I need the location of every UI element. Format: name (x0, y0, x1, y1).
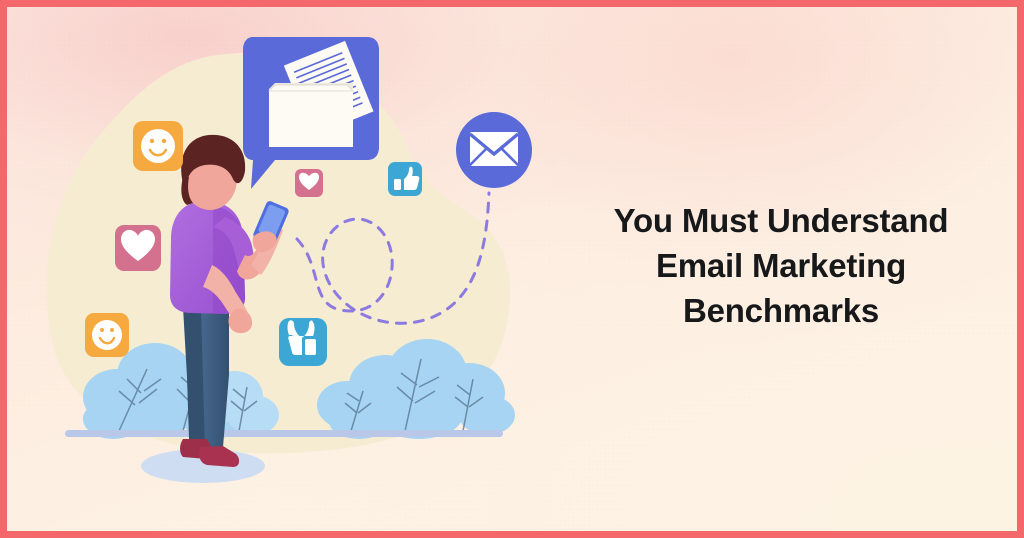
heart-icon-left (115, 225, 161, 271)
ground-line (65, 430, 503, 437)
headline-line-2: Email Marketing (555, 244, 1007, 289)
illustration (7, 7, 547, 531)
heart-icon-small-center (295, 169, 323, 197)
headline-line-1: You Must Understand (555, 199, 1007, 244)
smiley-icon-top-left (133, 121, 183, 171)
mail-circle-badge (456, 112, 532, 188)
thumbs-up-icon-large (279, 318, 327, 366)
headline-line-3: Benchmarks (555, 289, 1007, 334)
page-title: You Must Understand Email Marketing Benc… (555, 199, 1007, 334)
smiley-icon-bottom-left (85, 313, 129, 357)
banner-inner-surface: You Must Understand Email Marketing Benc… (7, 7, 1017, 531)
banner-image: You Must Understand Email Marketing Benc… (0, 0, 1024, 538)
thumbs-up-icon-small (388, 162, 422, 196)
